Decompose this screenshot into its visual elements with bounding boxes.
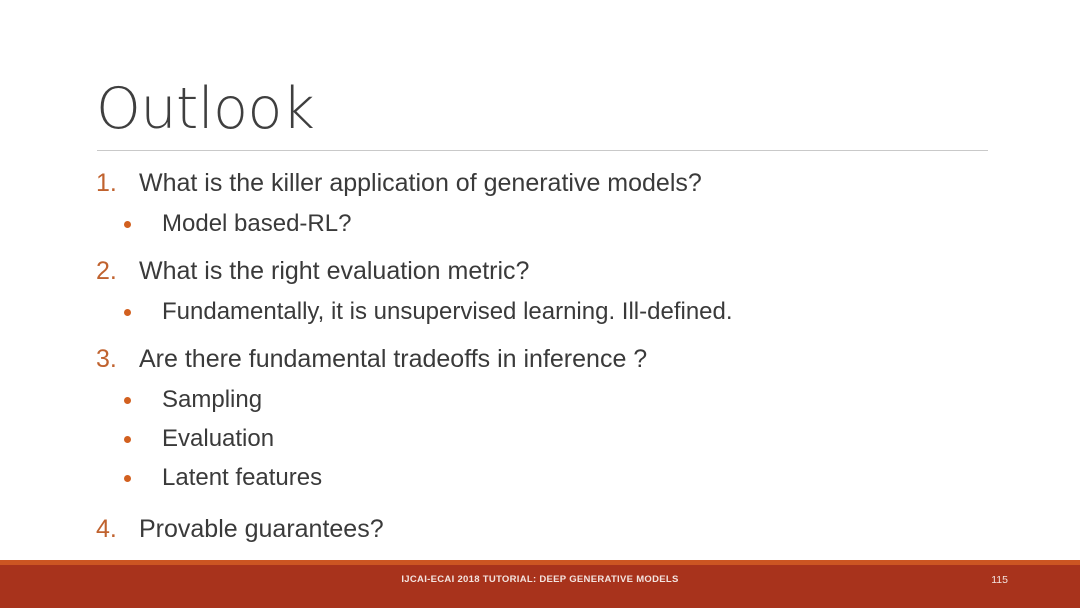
slide-footer: IJCAI-ECAI 2018 TUTORIAL: DEEP GENERATIV… — [0, 560, 1080, 608]
footer-title: IJCAI-ECAI 2018 TUTORIAL: DEEP GENERATIV… — [0, 574, 1080, 585]
title-block: Outlook — [96, 78, 988, 140]
page-title: Outlook — [96, 78, 988, 140]
list-item-label: Are there fundamental tradeoffs in infer… — [139, 345, 647, 373]
list-item-label: What is the killer application of genera… — [139, 169, 702, 197]
outline-list: 1. What is the killer application of gen… — [96, 164, 996, 552]
footer-accent-stripe — [0, 560, 1080, 565]
list-item-marker: 3. — [96, 340, 130, 378]
list-item-marker: 1. — [96, 164, 130, 202]
list-item-label: What is the right evaluation metric? — [139, 257, 529, 285]
slide-number: 115 — [991, 574, 1008, 586]
sub-list-item: Evaluation — [96, 421, 996, 457]
title-divider — [97, 150, 988, 151]
presentation-slide: Outlook 1. What is the killer applicatio… — [0, 0, 1080, 608]
sub-list-item: Sampling — [96, 382, 996, 418]
sub-list-item-label: Evaluation — [162, 425, 274, 452]
list-item: 2. What is the right evaluation metric? — [96, 252, 996, 290]
bullet-dot-icon — [124, 221, 131, 228]
sub-list-item: Model based-RL? — [96, 206, 996, 242]
sub-list-item-label: Latent features — [162, 464, 322, 491]
list-item: 1. What is the killer application of gen… — [96, 164, 996, 202]
sub-list-item-label: Model based-RL? — [162, 210, 351, 237]
bullet-dot-icon — [124, 436, 131, 443]
bullet-dot-icon — [124, 475, 131, 482]
sub-list-item: Latent features — [96, 460, 996, 496]
list-item-label: Provable guarantees? — [139, 515, 384, 543]
list-item-marker: 2. — [96, 252, 130, 290]
sub-list-item-label: Fundamentally, it is unsupervised learni… — [162, 298, 733, 325]
list-item: 3. Are there fundamental tradeoffs in in… — [96, 340, 996, 378]
bullet-dot-icon — [124, 309, 131, 316]
list-item-marker: 4. — [96, 510, 130, 548]
sub-list-item-label: Sampling — [162, 386, 262, 413]
list-item: 4. Provable guarantees? — [96, 510, 996, 548]
sub-list-item: Fundamentally, it is unsupervised learni… — [96, 294, 996, 330]
bullet-dot-icon — [124, 397, 131, 404]
